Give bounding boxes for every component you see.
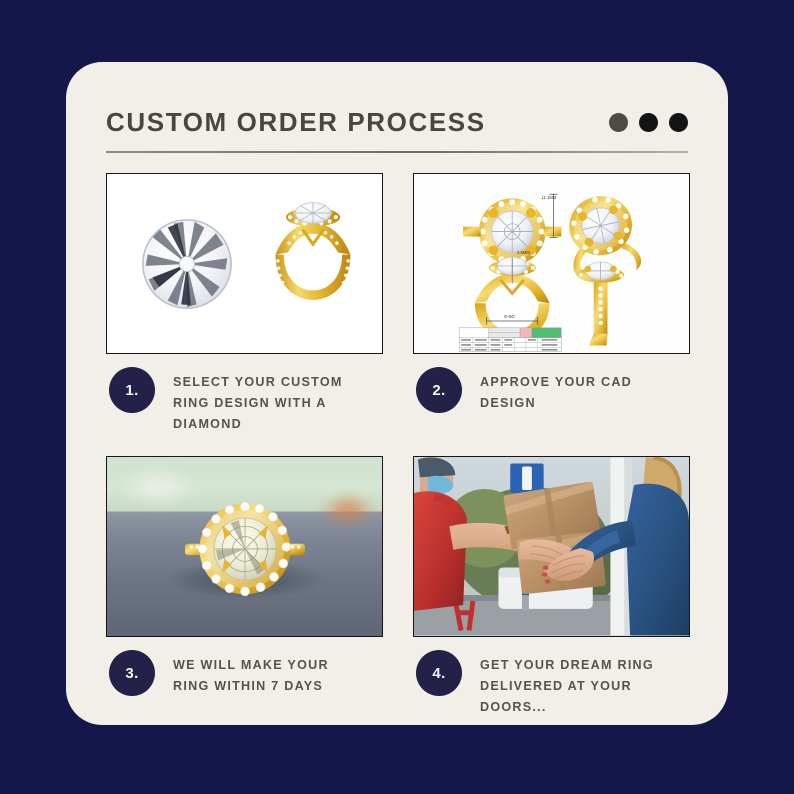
step-2-image[interactable]: 11.1MM	[413, 173, 690, 354]
cad-sheet-icon: 11.1MM	[414, 174, 689, 353]
cad-band-dimension: E-NO	[504, 314, 514, 319]
step-4-label: GET YOUR DREAM RING DELIVERED AT YOUR DO…	[480, 650, 676, 718]
step-3-caption: 3. WE WILL MAKE YOUR RING WITHIN 7 DAYS	[106, 650, 383, 697]
step-3: 3. WE WILL MAKE YOUR RING WITHIN 7 DAYS	[106, 456, 383, 718]
steps-grid: 1. SELECT YOUR CUSTOM RING DESIGN WITH A…	[106, 173, 690, 718]
step-1-image[interactable]	[106, 173, 383, 354]
step-4: 4. GET YOUR DREAM RING DELIVERED AT YOUR…	[413, 456, 690, 718]
poster-canvas: CUSTOM ORDER PROCESS	[0, 0, 794, 794]
card-header: CUSTOM ORDER PROCESS	[106, 94, 688, 150]
step-4-caption: 4. GET YOUR DREAM RING DELIVERED AT YOUR…	[413, 650, 690, 718]
step-2-number: 2.	[416, 367, 462, 413]
background-bokeh	[320, 493, 376, 527]
window-dot-3-icon[interactable]	[669, 113, 688, 132]
halo-ring-photo-icon	[183, 488, 307, 612]
step-3-label: WE WILL MAKE YOUR RING WITHIN 7 DAYS	[173, 650, 369, 697]
cad-spec-table	[459, 328, 561, 352]
step-2-caption: 2. APPROVE YOUR CAD DESIGN	[413, 367, 690, 414]
step-3-number: 3.	[109, 650, 155, 696]
process-card: CUSTOM ORDER PROCESS	[66, 62, 728, 725]
page-title: CUSTOM ORDER PROCESS	[106, 107, 486, 138]
cad-mid-dimension: 4.8MM	[517, 250, 530, 255]
step-4-number: 4.	[416, 650, 462, 696]
step-2-label: APPROVE YOUR CAD DESIGN	[480, 367, 676, 414]
header-divider	[106, 151, 688, 153]
step-3-image[interactable]	[106, 456, 383, 637]
step-4-image[interactable]	[413, 456, 690, 637]
step-1-label: SELECT YOUR CUSTOM RING DESIGN WITH A DI…	[173, 367, 369, 435]
step-1-number: 1.	[109, 367, 155, 413]
step-1: 1. SELECT YOUR CUSTOM RING DESIGN WITH A…	[106, 173, 383, 435]
window-dot-2-icon[interactable]	[639, 113, 658, 132]
step-2: 11.1MM	[413, 173, 690, 435]
delivery-handoff-icon	[414, 457, 689, 636]
step-1-caption: 1. SELECT YOUR CUSTOM RING DESIGN WITH A…	[106, 367, 383, 435]
loose-diamond-icon	[139, 216, 235, 312]
window-dot-1-icon[interactable]	[609, 113, 628, 132]
gold-ring-profile-icon	[261, 192, 365, 338]
cad-top-dimension: 11.1MM	[542, 195, 557, 200]
window-controls	[609, 113, 688, 132]
